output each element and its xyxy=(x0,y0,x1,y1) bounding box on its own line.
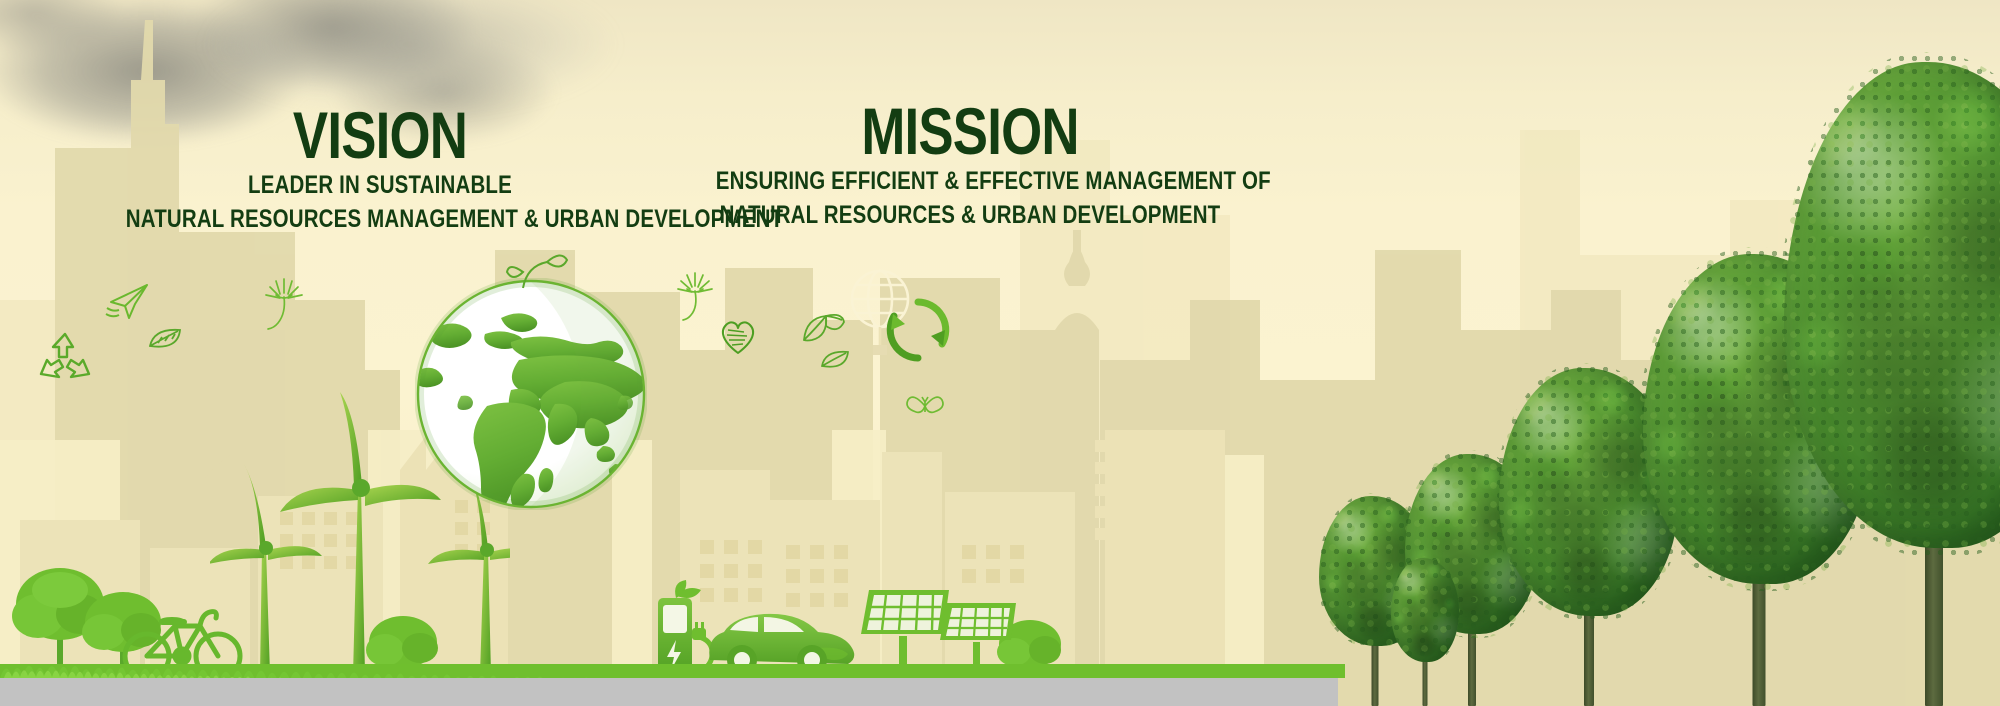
mission-line-2: NATURAL RESOURCES & URBAN DEVELOPMENT xyxy=(716,201,1224,231)
butterfly-icon xyxy=(905,392,945,420)
dandelion-icon-2 xyxy=(675,270,725,324)
vision-line-1: LEADER IN SUSTAINABLE xyxy=(126,171,634,201)
vision-heading: VISION xyxy=(132,104,628,167)
recycle-arrows-icon xyxy=(880,292,956,368)
photo-tree xyxy=(1390,556,1460,706)
tree-canopy xyxy=(1784,62,2000,548)
leaf-icon-2 xyxy=(820,350,850,370)
road-strip xyxy=(0,674,1338,706)
vision-line-2: NATURAL RESOURCES MANAGEMENT & URBAN DEV… xyxy=(126,205,634,235)
sprout-icon xyxy=(505,250,569,290)
leaf-icon xyxy=(148,328,182,350)
mission-heading: MISSION xyxy=(722,100,1218,163)
paper-plane-icon xyxy=(105,282,153,322)
mission-block: MISSION ENSURING EFFICIENT & EFFECTIVE M… xyxy=(660,100,1280,230)
grass-strip xyxy=(0,652,1345,678)
tree-canopy xyxy=(1391,558,1459,662)
eco-banner: VISION LEADER IN SUSTAINABLE NATURAL RES… xyxy=(0,0,2000,706)
dandelion-icon xyxy=(262,275,318,333)
leaf-pair-icon xyxy=(800,310,846,344)
globe-earth-icon xyxy=(415,278,647,510)
vision-block: VISION LEADER IN SUSTAINABLE NATURAL RES… xyxy=(70,104,690,234)
recycle-triangle-icon xyxy=(35,330,95,386)
photo-tree xyxy=(1784,66,2000,706)
heart-sketch-icon xyxy=(718,318,758,356)
mission-line-1: ENSURING EFFICIENT & EFFECTIVE MANAGEMEN… xyxy=(716,167,1224,197)
